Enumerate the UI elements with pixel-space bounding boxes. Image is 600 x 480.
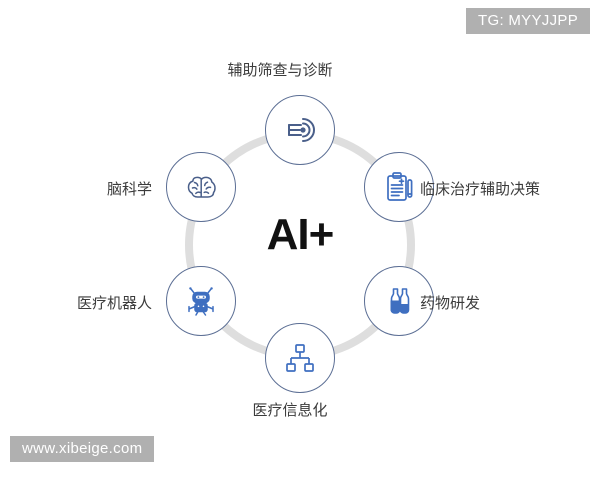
label-info: 医疗信息化 [215,402,365,420]
robot-icon [181,281,221,321]
node-robot[interactable] [166,266,236,336]
brain-icon [181,167,221,207]
label-brain: 脑科学 [68,181,152,199]
hierarchy-network-icon [280,338,320,378]
center-hub-label: AI+ [185,210,415,260]
medicine-vials-icon [379,281,419,321]
node-info[interactable] [265,323,335,393]
clipboard-medical-icon [379,167,419,207]
telegram-watermark: TG: MYYJJPP [466,8,590,34]
label-screening: 辅助筛查与诊断 [190,62,370,80]
label-robot: 医疗机器人 [42,295,152,313]
label-drug: 药物研发 [420,295,480,313]
label-clinical: 临床治疗辅助决策 [420,181,540,199]
node-brain[interactable] [166,152,236,222]
node-screening[interactable] [265,95,335,165]
ai-plus-healthcare-diagram: AI+ 辅助筛查与诊断 [0,0,600,480]
scan-target-icon [280,110,320,150]
site-watermark: www.xibeige.com [10,436,154,462]
